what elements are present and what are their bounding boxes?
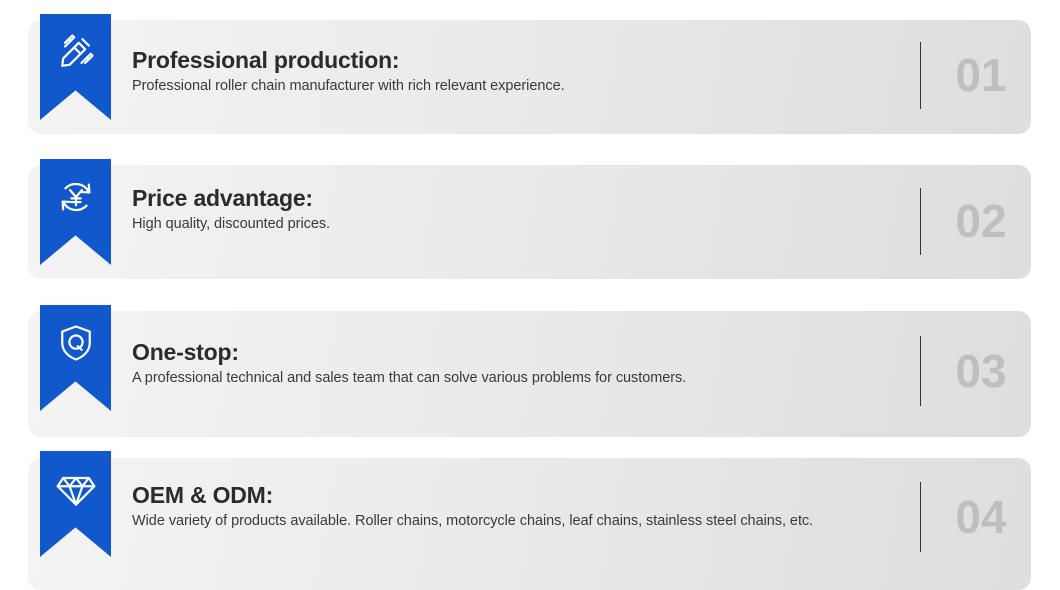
feature-title: OEM & ODM:	[132, 483, 892, 509]
yuan-currency-refresh-icon	[54, 175, 98, 219]
crossed-pen-ruler-icon	[54, 30, 98, 74]
feature-index-number: 01	[938, 52, 1024, 98]
feature-divider	[920, 188, 921, 255]
feature-divider	[920, 42, 921, 109]
feature-description: High quality, discounted prices.	[132, 215, 892, 235]
feature-list: Professional production: Professional ro…	[0, 0, 1060, 586]
feature-item: Price advantage: High quality, discounte…	[0, 146, 1060, 292]
feature-title: One-stop:	[132, 340, 892, 366]
feature-description: Wide variety of products available. Roll…	[132, 512, 892, 532]
feature-description: Professional roller chain manufacturer w…	[132, 77, 892, 97]
feature-divider	[920, 482, 921, 552]
feature-title: Price advantage:	[132, 186, 892, 212]
feature-text-block: OEM & ODM: Wide variety of products avai…	[132, 483, 892, 531]
feature-divider	[920, 336, 921, 406]
feature-index-number: 02	[938, 198, 1024, 244]
feature-text-block: Professional production: Professional ro…	[132, 48, 892, 96]
feature-item: OEM & ODM: Wide variety of products avai…	[0, 438, 1060, 586]
feature-text-block: Price advantage: High quality, discounte…	[132, 186, 892, 234]
feature-item: Professional production: Professional ro…	[0, 0, 1060, 146]
feature-index-number: 04	[938, 494, 1024, 540]
feature-text-block: One-stop: A professional technical and s…	[132, 340, 892, 388]
feature-item: One-stop: A professional technical and s…	[0, 292, 1060, 438]
shield-quality-icon	[54, 321, 98, 365]
feature-description: A professional technical and sales team …	[132, 369, 892, 389]
feature-title: Professional production:	[132, 48, 892, 74]
feature-index-number: 03	[938, 348, 1024, 394]
diamond-icon	[54, 467, 98, 511]
